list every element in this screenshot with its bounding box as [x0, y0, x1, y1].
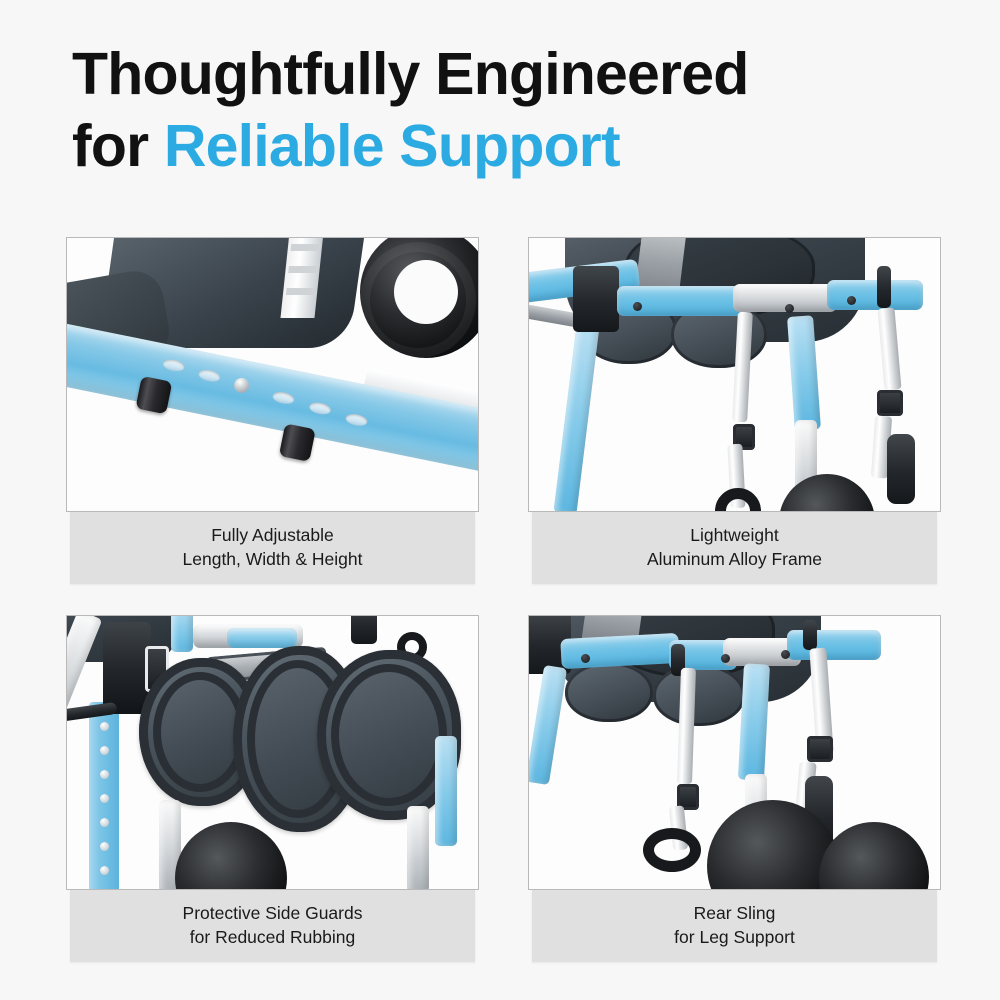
feature-card-lightweight-frame: Lightweight Aluminum Alloy Frame — [528, 237, 941, 584]
wheel-rim-shape — [360, 242, 476, 358]
feature-card-protective-side-guards: Protective Side Guards for Reduced Rubbi… — [66, 615, 479, 962]
feature-image-fully-adjustable — [66, 237, 479, 512]
clamp-top-right-shape — [351, 615, 377, 644]
caption-line-1: Rear Sling — [538, 901, 931, 925]
blue-post-shape — [89, 702, 119, 890]
side-pad-right-shape — [653, 664, 745, 726]
leg-loop-left-shape — [715, 488, 761, 512]
lower-frame-right-shape — [407, 806, 429, 890]
wheel-shape — [779, 474, 875, 512]
caption-line-2: for Leg Support — [538, 925, 931, 949]
frame-crossbar-blue-shape — [227, 628, 297, 648]
scene-side-guards — [67, 616, 478, 889]
strap-buckle-right-shape — [877, 390, 903, 416]
caption-line-1: Fully Adjustable — [76, 523, 469, 547]
caption-line-2: Length, Width & Height — [76, 547, 469, 571]
sling-strap-left-shape — [677, 668, 696, 784]
scene-aluminum-frame — [529, 238, 940, 511]
page-heading: Thoughtfully Engineered for Reliable Sup… — [72, 44, 952, 176]
wheel-secondary-shape — [819, 822, 929, 890]
frame-leg-left-shape — [528, 665, 567, 785]
crossbar-mid-shape — [617, 286, 747, 316]
caption-line-2: for Reduced Rubbing — [76, 925, 469, 949]
feature-image-rear-sling — [528, 615, 941, 890]
frame-bar-blue-top-shape — [171, 615, 193, 652]
wheel-shape — [175, 822, 287, 890]
crossbar-clamp-right-shape — [877, 266, 891, 308]
feature-image-lightweight-frame — [528, 237, 941, 512]
feature-caption-rear-sling: Rear Sling for Leg Support — [532, 890, 937, 962]
feature-image-protective-side-guards — [66, 615, 479, 890]
scene-adjustable-tube — [67, 238, 478, 511]
leg-loop-left-shape — [643, 828, 701, 872]
feature-infographic-page: Thoughtfully Engineered for Reliable Sup… — [0, 0, 1000, 1000]
strap-buckle-right-shape — [807, 736, 833, 762]
crossbar-clamp-shape — [573, 266, 619, 332]
caption-line-1: Protective Side Guards — [76, 901, 469, 925]
feature-card-rear-sling: Rear Sling for Leg Support — [528, 615, 941, 962]
crossbar-right-shape — [827, 280, 923, 310]
feature-caption-fully-adjustable: Fully Adjustable Length, Width & Height — [70, 512, 475, 584]
feature-card-fully-adjustable: Fully Adjustable Length, Width & Height — [66, 237, 479, 584]
feature-caption-lightweight-frame: Lightweight Aluminum Alloy Frame — [532, 512, 937, 584]
frame-leg-left-shape — [554, 323, 600, 512]
heading-line-1: Thoughtfully Engineered — [72, 44, 952, 104]
feature-caption-protective-side-guards: Protective Side Guards for Reduced Rubbi… — [70, 890, 475, 962]
scene-rear-sling — [529, 616, 940, 889]
caption-line-1: Lightweight — [538, 523, 931, 547]
frame-leg-center-shape — [738, 663, 770, 780]
crossbar-left-shape — [560, 633, 679, 669]
sling-strap-right-shape — [877, 307, 901, 390]
leg-pad-right-shape — [887, 434, 915, 504]
lower-frame-blue-shape — [435, 736, 457, 846]
side-pad-left-shape — [565, 662, 653, 722]
feature-grid: Fully Adjustable Length, Width & Height — [66, 237, 938, 957]
caption-line-2: Aluminum Alloy Frame — [538, 547, 931, 571]
heading-line-2: for Reliable Support — [72, 116, 952, 176]
heading-line-2-prefix: for — [72, 113, 164, 179]
heading-line-2-accent: Reliable Support — [164, 113, 620, 179]
strap-anchor-right-shape — [803, 620, 817, 650]
crossbar-right-shape — [787, 630, 881, 660]
